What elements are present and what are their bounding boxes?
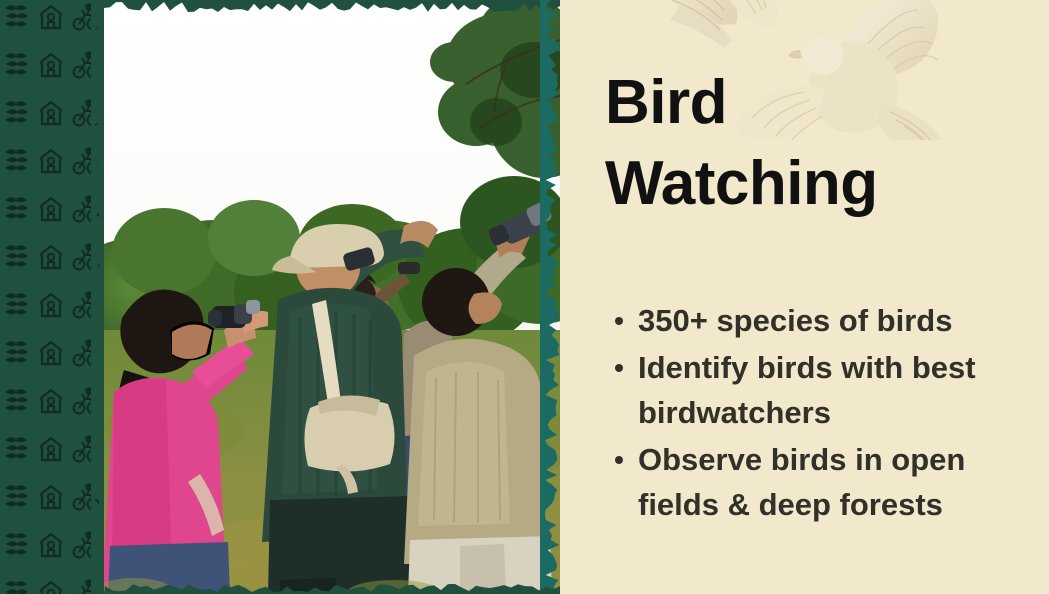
pattern-row <box>0 522 104 570</box>
hut-icon-cell <box>37 578 65 594</box>
hut-icon <box>37 50 65 80</box>
hut-icon-cell <box>37 146 65 181</box>
pattern-row <box>0 138 104 186</box>
hut-icon <box>37 290 65 320</box>
bullet-item: 350+ species of birds <box>610 298 1040 344</box>
hut-icon-cell <box>37 482 65 517</box>
bird-flock-icon-cell <box>3 2 31 37</box>
bird-flock-icon <box>3 50 31 80</box>
bird-flock-icon-cell <box>3 98 31 133</box>
hut-icon <box>37 482 65 512</box>
bird-flock-icon-cell <box>3 290 31 325</box>
bird-flock-icon-cell <box>3 578 31 594</box>
hut-icon <box>37 530 65 560</box>
hut-icon-cell <box>37 386 65 421</box>
hut-icon-cell <box>37 98 65 133</box>
bird-flock-icon <box>3 242 31 272</box>
decorative-pattern-band <box>0 0 104 594</box>
hut-icon <box>37 434 65 464</box>
bird-flock-icon <box>3 98 31 128</box>
bird-flock-icon-cell <box>3 482 31 517</box>
pattern-row <box>0 234 104 282</box>
hut-icon-cell <box>37 290 65 325</box>
bird-flock-icon <box>3 434 31 464</box>
hut-icon <box>37 386 65 416</box>
bird-watching-poster: Bird Watching 350+ species of birdsIdent… <box>0 0 1049 594</box>
bird-flock-icon-cell <box>3 194 31 229</box>
bird-flock-icon <box>3 2 31 32</box>
hut-icon-cell <box>37 242 65 277</box>
bullet-item: Observe birds in open fields & deep fore… <box>610 437 1040 528</box>
photo-illustration <box>104 0 560 594</box>
pattern-icon-grid <box>0 0 104 594</box>
pattern-row <box>0 0 104 42</box>
bird-flock-icon-cell <box>3 146 31 181</box>
bird-flock-icon <box>3 146 31 176</box>
dove-left-icon <box>656 0 778 48</box>
hut-icon-cell <box>37 338 65 373</box>
hut-icon <box>37 338 65 368</box>
hut-icon-cell <box>37 2 65 37</box>
page-title: Bird Watching <box>605 62 1035 224</box>
bird-flock-icon-cell <box>3 338 31 373</box>
hut-icon <box>37 242 65 272</box>
hut-icon <box>37 2 65 32</box>
pattern-row <box>0 186 104 234</box>
pattern-row <box>0 426 104 474</box>
bird-flock-icon <box>3 194 31 224</box>
hut-icon-cell <box>37 194 65 229</box>
bird-flock-icon <box>3 578 31 594</box>
birdwatchers-photo <box>104 0 560 594</box>
bullet-item: Identify birds with best birdwatchers <box>610 345 1040 436</box>
bird-flock-icon-cell <box>3 434 31 469</box>
hut-icon <box>37 194 65 224</box>
bird-flock-icon-cell <box>3 386 31 421</box>
hut-icon-cell <box>37 530 65 565</box>
torn-edge-photo-right <box>540 0 560 594</box>
pattern-row <box>0 378 104 426</box>
hut-icon <box>37 98 65 128</box>
hut-icon-cell <box>37 50 65 85</box>
bird-flock-icon <box>3 530 31 560</box>
pattern-row <box>0 282 104 330</box>
hut-icon <box>37 578 65 594</box>
pattern-row <box>0 474 104 522</box>
torn-edge-bottom <box>104 584 560 594</box>
bird-flock-icon <box>3 338 31 368</box>
torn-edge-right <box>91 0 104 594</box>
bird-flock-icon <box>3 290 31 320</box>
bird-flock-icon <box>3 386 31 416</box>
bird-flock-icon-cell <box>3 242 31 277</box>
hut-icon-cell <box>37 434 65 469</box>
bird-flock-icon-cell <box>3 530 31 565</box>
pattern-row <box>0 42 104 90</box>
bird-flock-icon <box>3 482 31 512</box>
pattern-row <box>0 90 104 138</box>
pattern-row <box>0 330 104 378</box>
feature-bullet-list: 350+ species of birdsIdentify birds with… <box>610 298 1040 529</box>
torn-edge-top <box>104 0 560 12</box>
hut-icon <box>37 146 65 176</box>
pattern-row <box>0 570 104 594</box>
bird-flock-icon-cell <box>3 50 31 85</box>
text-column: Bird Watching 350+ species of birdsIdent… <box>560 0 1049 594</box>
